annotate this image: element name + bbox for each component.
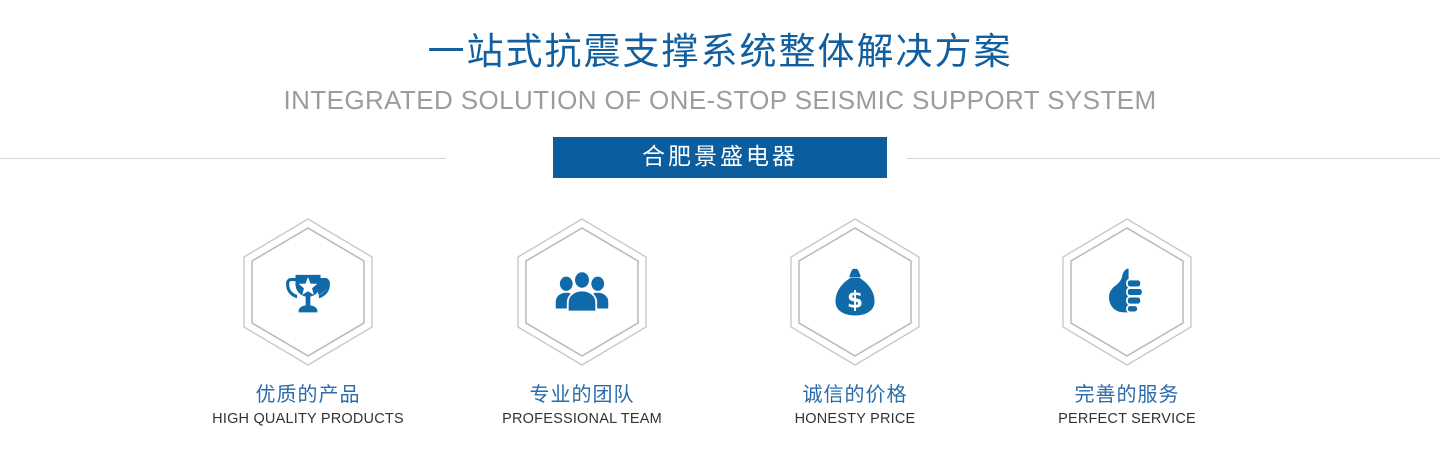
feature-label-cn: 完善的服务 [1017, 381, 1237, 407]
team-people-icon [513, 216, 651, 368]
feature-label-cn: 优质的产品 [198, 381, 418, 407]
feature-item-perfect-service[interactable]: 完善的服务 PERFECT SERVICE [1017, 216, 1237, 429]
feature-list: 优质的产品 HIGH QUALITY PRODUCTS [0, 216, 1440, 436]
feature-label-en: HONESTY PRICE [745, 409, 965, 429]
hexagon-frame [239, 216, 377, 368]
hexagon-frame [513, 216, 651, 368]
feature-item-professional-team[interactable]: 专业的团队 PROFESSIONAL TEAM [472, 216, 692, 429]
page-title-cn: 一站式抗震支撑系统整体解决方案 [0, 28, 1440, 76]
divider-left [0, 158, 446, 159]
brand-badge-row: 合肥景盛电器 [0, 137, 1440, 179]
svg-text:$: $ [847, 286, 863, 314]
promo-banner: 一站式抗震支撑系统整体解决方案 INTEGRATED SOLUTION OF O… [0, 0, 1440, 452]
heading-block: 一站式抗震支撑系统整体解决方案 INTEGRATED SOLUTION OF O… [0, 28, 1440, 116]
money-bag-icon: $ [786, 216, 924, 368]
feature-label-en: PERFECT SERVICE [1017, 409, 1237, 429]
hexagon-frame [1058, 216, 1196, 368]
brand-badge: 合肥景盛电器 [553, 137, 887, 178]
feature-label-en: PROFESSIONAL TEAM [472, 409, 692, 429]
divider-right [907, 158, 1440, 159]
feature-item-honesty-price[interactable]: $ 诚信的价格 HONESTY PRICE [745, 216, 965, 429]
feature-label-cn: 诚信的价格 [745, 381, 965, 407]
trophy-icon [239, 216, 377, 368]
feature-item-high-quality-products[interactable]: 优质的产品 HIGH QUALITY PRODUCTS [198, 216, 418, 429]
feature-label-cn: 专业的团队 [472, 381, 692, 407]
hexagon-frame: $ [786, 216, 924, 368]
page-subtitle-en: INTEGRATED SOLUTION OF ONE-STOP SEISMIC … [0, 84, 1440, 116]
feature-label-en: HIGH QUALITY PRODUCTS [198, 409, 418, 429]
thumbs-up-icon [1058, 216, 1196, 368]
